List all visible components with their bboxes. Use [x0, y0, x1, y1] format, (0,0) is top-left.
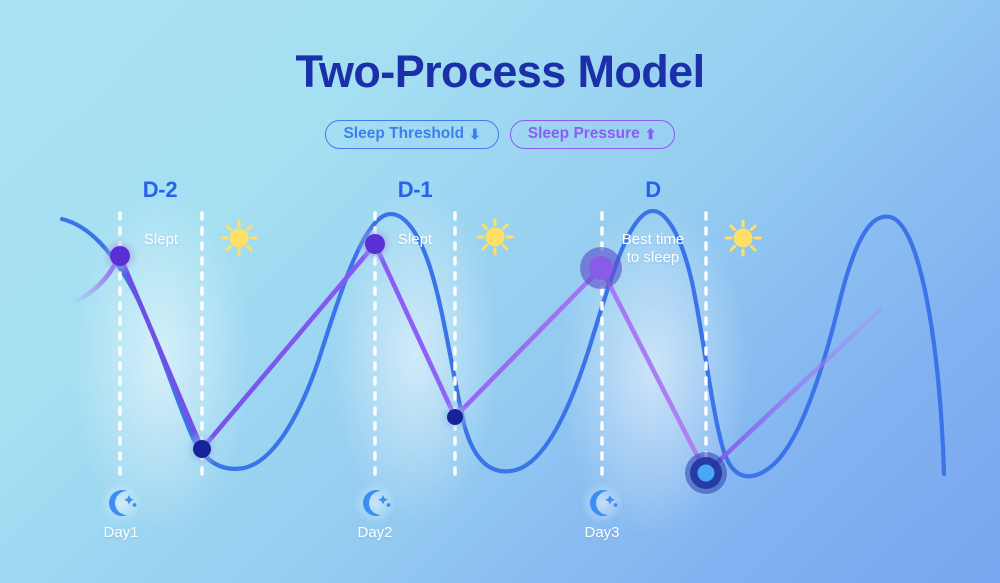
zone-label-slept-d1: Slept [398, 231, 432, 249]
arrow-down-icon: ⬇ [469, 127, 481, 141]
legend-item-sleep-threshold[interactable]: Sleep Threshold ⬇ [325, 120, 498, 149]
axis-label-day3: Day3 [584, 524, 619, 541]
sun-icon-d [726, 221, 760, 255]
axis-label-day2: Day2 [357, 524, 392, 541]
marker-wake-d2[interactable] [101, 237, 139, 275]
legend-label-sleep-threshold: Sleep Threshold [343, 126, 464, 142]
legend-label-sleep-pressure: Sleep Pressure [528, 126, 640, 142]
arrow-up-icon: ⬆ [645, 127, 657, 141]
page-title: Two-Process Model [0, 46, 1000, 98]
zone-label-best-time-to-sleep: Best time to sleep [622, 231, 685, 267]
marker-sleep-onset-d2[interactable] [184, 431, 220, 467]
moon-stars-icon-day3 [581, 482, 623, 524]
zone-label-best-time-line-1: Best time [622, 231, 685, 249]
day-marker-d-1: D-1 [398, 177, 433, 203]
marker-best-time-to-sleep[interactable] [685, 452, 727, 494]
marker-wake-d1[interactable] [356, 225, 394, 263]
two-process-model-infographic: Two-Process Model Sleep Threshold ⬇ Slee… [0, 0, 1000, 583]
moon-stars-icon-day1 [100, 482, 142, 524]
day-marker-d: D [645, 177, 661, 203]
zone-label-slept-d2: Slept [144, 231, 178, 249]
marker-sleep-onset-d1[interactable] [439, 401, 471, 433]
marker-wake-d[interactable] [580, 247, 622, 289]
sun-icon-d1 [478, 220, 512, 254]
zone-label-best-time-line-2: to sleep [622, 249, 685, 267]
sun-icon-d2 [222, 221, 256, 255]
day-marker-d-2: D-2 [143, 177, 178, 203]
axis-label-day1: Day1 [103, 524, 138, 541]
legend-item-sleep-pressure[interactable]: Sleep Pressure ⬆ [510, 120, 675, 149]
legend: Sleep Threshold ⬇ Sleep Pressure ⬆ [0, 120, 1000, 149]
moon-stars-icon-day2 [354, 482, 396, 524]
